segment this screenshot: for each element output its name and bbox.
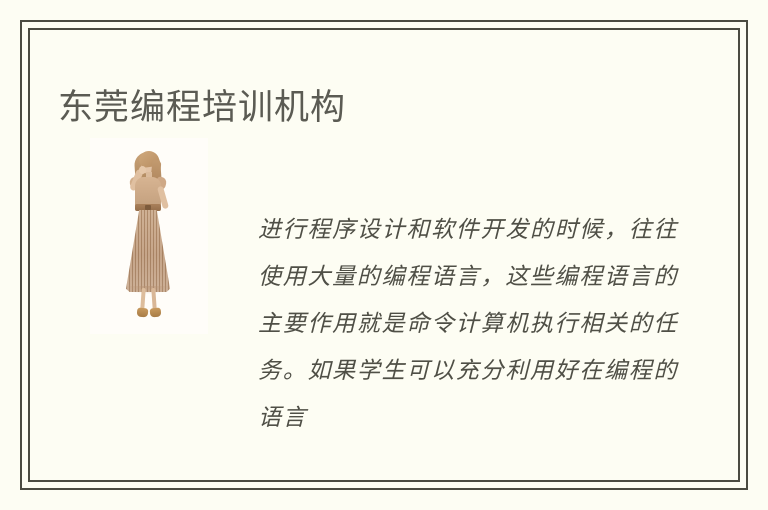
page-title: 东莞编程培训机构 <box>58 85 346 131</box>
photo-stage <box>90 138 208 334</box>
article-body: 进行程序设计和软件开发的时候，往往使用大量的编程语言，这些编程语言的主要作用就是… <box>58 134 718 470</box>
article-paragraph: 进行程序设计和软件开发的时候，往往使用大量的编程语言，这些编程语言的主要作用就是… <box>258 207 678 442</box>
figure-skirt-hem-shadow <box>126 286 170 294</box>
figure-hand-raised <box>139 166 146 174</box>
figure-shoe-left <box>137 307 149 317</box>
article-page: 东莞编程培训机构 <box>0 0 768 510</box>
figure-shoe-right <box>150 307 162 317</box>
figure-belt-buckle <box>145 205 151 210</box>
figure-leg-left <box>140 288 146 310</box>
figure-pleated-skirt <box>126 210 170 292</box>
article-content: 东莞编程培训机构 <box>30 30 738 480</box>
article-figure <box>90 138 208 334</box>
